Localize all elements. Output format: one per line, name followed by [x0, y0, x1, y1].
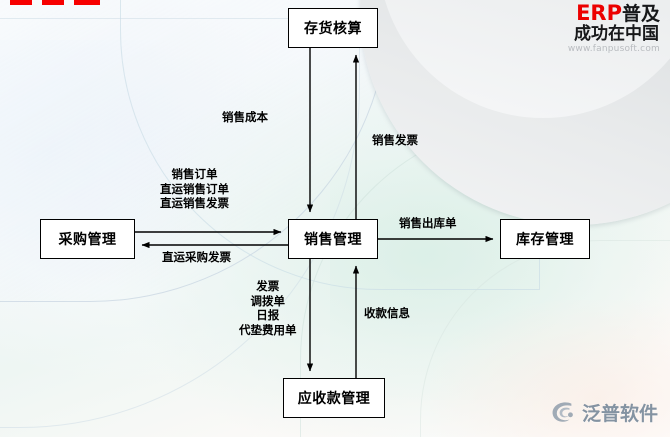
edge-label-line: 销售订单	[160, 167, 229, 182]
node-receivables-management[interactable]: 应收款管理	[283, 378, 385, 418]
label-payment-info: 收款信息	[364, 306, 410, 321]
label-sales-docs: 发票调拨单日报代垫费用单	[239, 279, 297, 338]
node-sales-management[interactable]: 销售管理	[288, 219, 378, 259]
label-direct-purchase-invoice: 直运采购发票	[162, 250, 231, 265]
node-label: 采购管理	[59, 229, 117, 249]
label-sales-outbound: 销售出库单	[399, 216, 457, 231]
edge-label-line: 日报	[239, 308, 297, 323]
node-label: 应收款管理	[298, 388, 371, 408]
label-sales-cost: 销售成本	[222, 110, 268, 125]
node-inventory-accounting[interactable]: 存货核算	[288, 8, 378, 48]
label-sales-orders: 销售订单直运销售订单直运销售发票	[160, 167, 229, 211]
node-label: 存货核算	[304, 18, 362, 38]
edge-label-line: 发票	[239, 279, 297, 294]
node-purchase-management[interactable]: 采购管理	[40, 219, 135, 259]
label-sales-invoice: 销售发票	[372, 133, 418, 148]
edge-label-line: 收款信息	[364, 306, 410, 321]
edge-label-line: 销售出库单	[399, 216, 457, 231]
node-stock-management[interactable]: 库存管理	[500, 219, 590, 259]
flowchart: 存货核算采购管理销售管理库存管理应收款管理销售成本销售发票销售订单直运销售订单直…	[0, 0, 670, 437]
node-label: 销售管理	[304, 229, 362, 249]
edge-label-line: 直运销售发票	[160, 196, 229, 211]
edge-label-line: 直运采购发票	[162, 250, 231, 265]
node-label: 库存管理	[516, 229, 574, 249]
edge-label-line: 销售成本	[222, 110, 268, 125]
edge-label-line: 代垫费用单	[239, 323, 297, 338]
edge-label-line: 直运销售订单	[160, 182, 229, 197]
edge-label-line: 销售发票	[372, 133, 418, 148]
screenshot-canvas: ERP普及 成功在中国 www.fanpusoft.com	[0, 0, 670, 437]
edge-label-line: 调拨单	[239, 294, 297, 309]
